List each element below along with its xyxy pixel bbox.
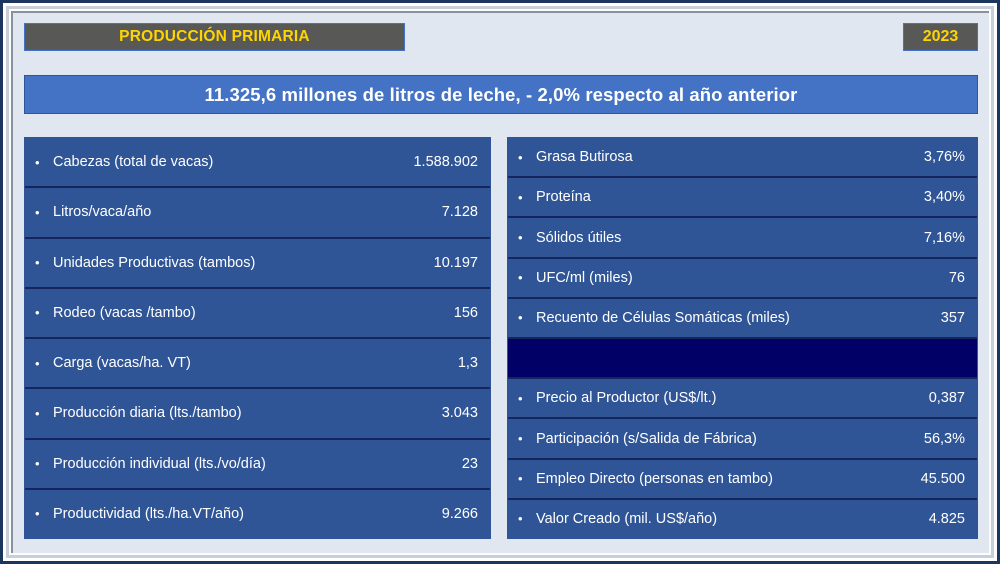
- row-label: Recuento de Células Somáticas (miles): [536, 310, 899, 326]
- row-label: Valor Creado (mil. US$/año): [536, 511, 899, 527]
- table-row: •Producción individual (lts./vo/día)23: [25, 440, 490, 490]
- row-value: 1,3: [382, 355, 478, 371]
- row-value: 3.043: [382, 405, 478, 421]
- row-label: Proteína: [536, 189, 899, 205]
- table-row: •Recuento de Células Somáticas (miles)35…: [508, 299, 977, 339]
- row-label: UFC/ml (miles): [536, 270, 899, 286]
- table-row: •Carga (vacas/ha. VT)1,3: [25, 339, 490, 389]
- row-value: 9.266: [382, 506, 478, 522]
- table-row: •Precio al Productor (US$/lt.)0,387: [508, 379, 977, 419]
- stats-table-right: •Grasa Butirosa3,76%•Proteína3,40%•Sólid…: [507, 137, 978, 539]
- table-row: •Producción diaria (lts./tambo)3.043: [25, 389, 490, 439]
- stats-table-left: •Cabezas (total de vacas)1.588.902•Litro…: [24, 137, 491, 539]
- row-label: Unidades Productivas (tambos): [53, 255, 382, 271]
- row-value: 156: [382, 305, 478, 321]
- slide-canvas: PRODUCCIÓN PRIMARIA 2023 11.325,6 millon…: [11, 11, 989, 553]
- bullet-icon: •: [518, 512, 536, 525]
- row-label: Sólidos útiles: [536, 230, 899, 246]
- section-title-chip: PRODUCCIÓN PRIMARIA: [24, 23, 405, 51]
- row-value: 0,387: [899, 390, 965, 406]
- bullet-icon: •: [518, 191, 536, 204]
- row-label: Productividad (lts./ha.VT/año): [53, 506, 382, 522]
- bullet-icon: •: [518, 392, 536, 405]
- row-value: 357: [899, 310, 965, 326]
- bullet-icon: •: [518, 151, 536, 164]
- table-row: •Valor Creado (mil. US$/año)4.825: [508, 500, 977, 538]
- headline-banner: 11.325,6 millones de litros de leche, - …: [24, 75, 978, 114]
- table-row: •UFC/ml (miles)76: [508, 259, 977, 299]
- slide-frame: PRODUCCIÓN PRIMARIA 2023 11.325,6 millon…: [0, 0, 1000, 564]
- frame-border-inner: PRODUCCIÓN PRIMARIA 2023 11.325,6 millon…: [9, 9, 991, 555]
- bullet-icon: •: [35, 457, 53, 470]
- row-label: Cabezas (total de vacas): [53, 154, 382, 170]
- row-value: 56,3%: [899, 431, 965, 447]
- row-label: Empleo Directo (personas en tambo): [536, 471, 899, 487]
- row-value: 10.197: [382, 255, 478, 271]
- bullet-icon: •: [35, 256, 53, 269]
- bullet-icon: •: [35, 306, 53, 319]
- table-row: •Sólidos útiles7,16%: [508, 218, 977, 258]
- row-label: Participación (s/Salida de Fábrica): [536, 431, 899, 447]
- row-value: 1.588.902: [382, 154, 478, 170]
- row-value: 4.825: [899, 511, 965, 527]
- table-row: •Productividad (lts./ha.VT/año)9.266: [25, 490, 490, 538]
- row-value: 7,16%: [899, 230, 965, 246]
- bullet-icon: •: [35, 357, 53, 370]
- row-label: Carga (vacas/ha. VT): [53, 355, 382, 371]
- table-row: •Empleo Directo (personas en tambo)45.50…: [508, 460, 977, 500]
- table-row: •Proteína3,40%: [508, 178, 977, 218]
- bullet-icon: •: [35, 407, 53, 420]
- row-value: 3,40%: [899, 189, 965, 205]
- row-value: 76: [899, 270, 965, 286]
- year-badge: 2023: [903, 23, 978, 51]
- bullet-icon: •: [35, 206, 53, 219]
- bullet-icon: •: [518, 472, 536, 485]
- frame-border-outer: PRODUCCIÓN PRIMARIA 2023 11.325,6 millon…: [3, 3, 997, 561]
- bullet-icon: •: [35, 156, 53, 169]
- table-row: •Litros/vaca/año7.128: [25, 188, 490, 238]
- bullet-icon: •: [518, 432, 536, 445]
- row-label: Litros/vaca/año: [53, 204, 382, 220]
- row-value: 45.500: [899, 471, 965, 487]
- bullet-icon: •: [518, 311, 536, 324]
- table-row: •Rodeo (vacas /tambo)156: [25, 289, 490, 339]
- page-title: PRODUCCIÓN PRIMARIA: [119, 28, 310, 46]
- table-row: •Unidades Productivas (tambos)10.197: [25, 239, 490, 289]
- bullet-icon: •: [518, 271, 536, 284]
- row-value: 3,76%: [899, 149, 965, 165]
- row-label: Precio al Productor (US$/lt.): [536, 390, 899, 406]
- bullet-icon: •: [35, 507, 53, 520]
- row-label: Grasa Butirosa: [536, 149, 899, 165]
- row-label: Producción individual (lts./vo/día): [53, 456, 382, 472]
- row-value: 7.128: [382, 204, 478, 220]
- table-row: •Participación (s/Salida de Fábrica)56,3…: [508, 419, 977, 459]
- table-row: •Grasa Butirosa3,76%: [508, 138, 977, 178]
- row-label: Producción diaria (lts./tambo): [53, 405, 382, 421]
- row-value: 23: [382, 456, 478, 472]
- table-row-separator: [508, 339, 977, 379]
- headline-text: 11.325,6 millones de litros de leche, - …: [205, 84, 798, 106]
- year-label: 2023: [923, 28, 959, 46]
- frame-border-gray: PRODUCCIÓN PRIMARIA 2023 11.325,6 millon…: [6, 6, 994, 558]
- row-label: Rodeo (vacas /tambo): [53, 305, 382, 321]
- table-row: •Cabezas (total de vacas)1.588.902: [25, 138, 490, 188]
- bullet-icon: •: [518, 231, 536, 244]
